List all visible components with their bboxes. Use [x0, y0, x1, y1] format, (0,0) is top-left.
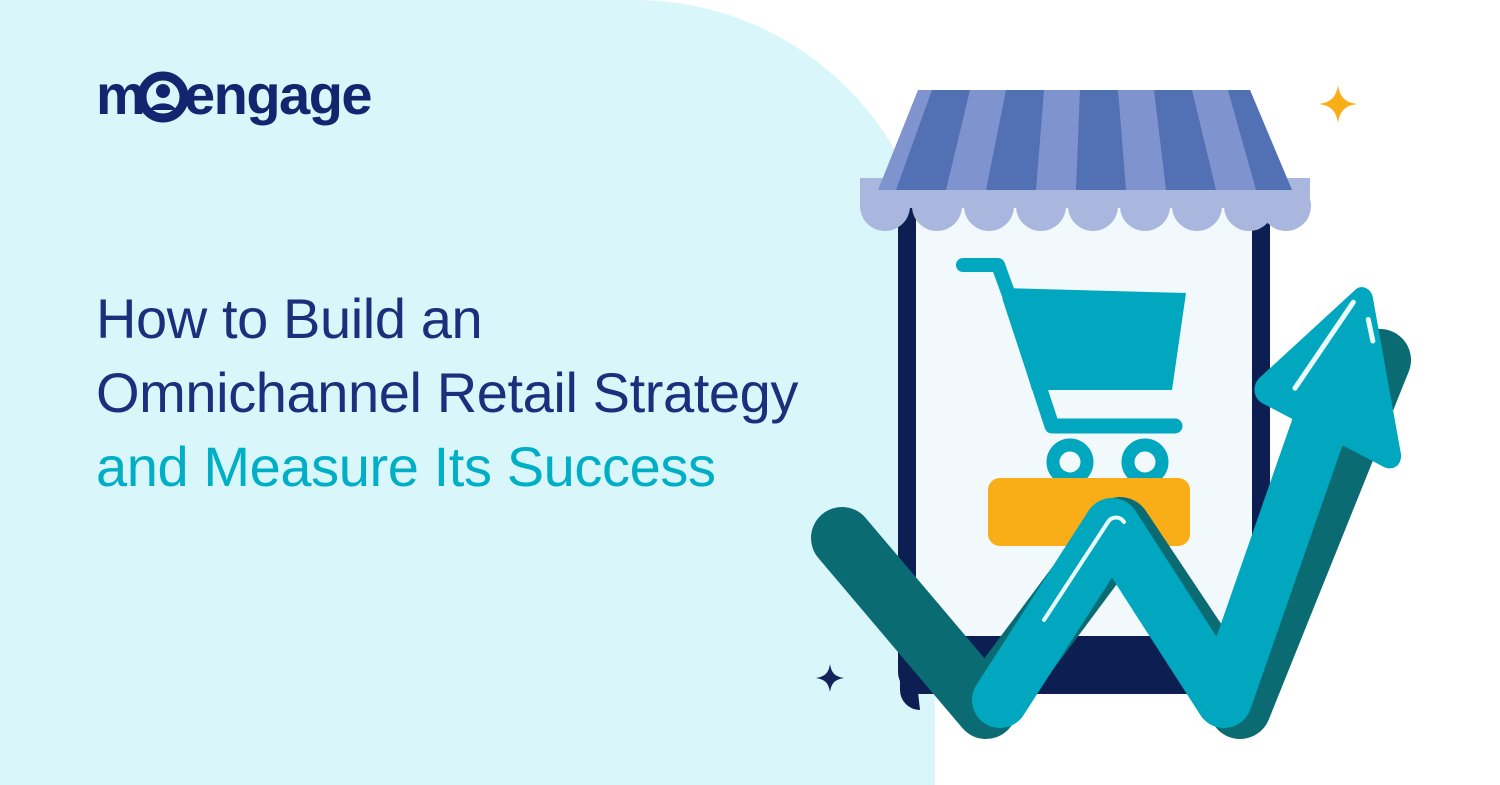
logo-wordmark-part-1: m — [96, 66, 144, 126]
hero-banner: m engage How to Build an Omnichannel Ret… — [0, 0, 1500, 785]
awning-canopy — [860, 85, 1320, 195]
page-title: How to Build an Omnichannel Retail Strat… — [96, 282, 886, 504]
moengage-logo[interactable]: m engage — [96, 66, 426, 128]
person-in-o-icon — [142, 76, 184, 118]
omnichannel-retail-storefront-illustration — [820, 60, 1440, 730]
headline-line-1: How to Build an — [96, 282, 886, 356]
headline-line-3: and Measure Its Success — [96, 430, 886, 504]
storefront-awning — [860, 85, 1320, 231]
logo-wordmark-part-2: engage — [184, 66, 371, 126]
headline-line-2: Omnichannel Retail Strategy — [96, 356, 886, 430]
